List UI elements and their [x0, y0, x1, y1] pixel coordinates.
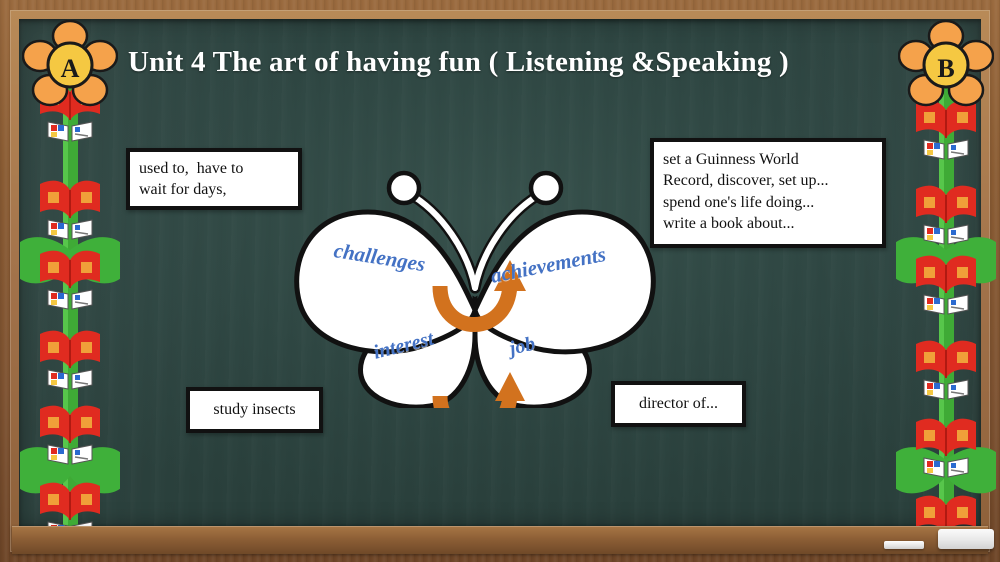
decorative-vine-left [20, 60, 120, 552]
note-box-director-of: director of... [611, 381, 746, 427]
chalk-icon [884, 541, 924, 549]
decorative-vine-right [896, 60, 996, 552]
page-title: Unit 4 The art of having fun ( Listening… [128, 46, 878, 79]
note-box-used-to: used to, have to wait for days, [126, 148, 302, 210]
chalk-ledge [12, 526, 988, 554]
eraser-icon [938, 529, 994, 549]
flower-badge-b: B [898, 20, 994, 116]
flower-badge-a: A [22, 20, 118, 116]
flower-icon [22, 20, 118, 116]
butterfly-diagram: challenges achievements interest job [282, 160, 668, 408]
note-box-study-insects: study insects [186, 387, 323, 433]
butterfly-graphic [282, 160, 668, 408]
slide-canvas: Unit 4 The art of having fun ( Listening… [0, 0, 1000, 562]
note-box-guinness: set a Guinness World Record, discover, s… [650, 138, 886, 248]
flower-icon [898, 20, 994, 116]
